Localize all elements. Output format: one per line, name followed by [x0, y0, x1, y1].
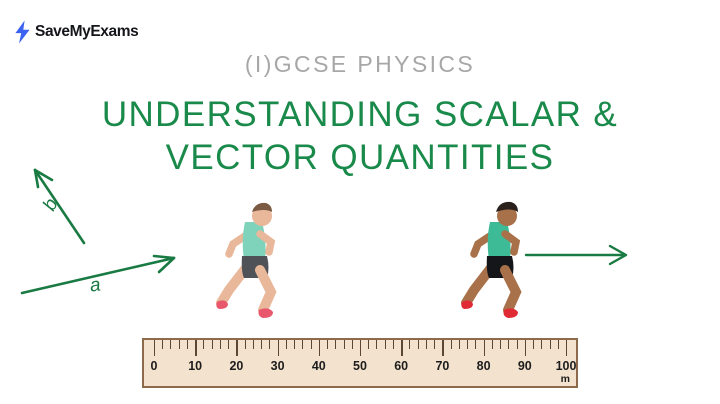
- vector-diagram: b a: [8, 155, 208, 320]
- ruler-minor-tick: [500, 340, 501, 349]
- ruler-minor-tick: [459, 340, 460, 349]
- ruler-minor-tick: [451, 340, 452, 349]
- ruler-number-label: 60: [394, 359, 408, 373]
- ruler-minor-tick: [335, 340, 336, 349]
- ruler-number-label: 20: [229, 359, 243, 373]
- ruler-major-tick: [566, 340, 567, 356]
- brand-logo: SaveMyExams: [14, 20, 138, 44]
- ruler-major-tick: [154, 340, 155, 356]
- ruler-minor-tick: [179, 340, 180, 349]
- ruler-minor-tick: [294, 340, 295, 349]
- ruler-minor-tick: [517, 340, 518, 349]
- ruler-minor-tick: [170, 340, 171, 349]
- ruler-minor-tick: [187, 340, 188, 349]
- ruler-minor-tick: [376, 340, 377, 349]
- velocity-vector-arrow: [524, 240, 634, 270]
- ruler-minor-tick: [245, 340, 246, 349]
- ruler-major-tick: [278, 340, 279, 356]
- brand-name: SaveMyExams: [35, 23, 138, 41]
- ruler-number-label: 50: [353, 359, 367, 373]
- ruler-minor-tick: [393, 340, 394, 349]
- ruler-minor-tick: [558, 340, 559, 349]
- ruler-minor-tick: [228, 340, 229, 349]
- ruler-minor-tick: [311, 340, 312, 349]
- ruler-minor-tick: [434, 340, 435, 349]
- ruler-major-tick: [319, 340, 320, 356]
- lightning-bolt-icon: [14, 20, 31, 44]
- ruler-number-label: 0: [151, 359, 158, 373]
- ruler-minor-tick: [302, 340, 303, 349]
- ruler-major-tick: [195, 340, 196, 356]
- ruler-minor-tick: [220, 340, 221, 349]
- ruler-minor-tick: [550, 340, 551, 349]
- ruler-minor-tick: [261, 340, 262, 349]
- ruler-number-label: 40: [312, 359, 326, 373]
- ruler-minor-tick: [409, 340, 410, 349]
- ruler-number-label: 70: [435, 359, 449, 373]
- ruler-minor-tick: [344, 340, 345, 349]
- ruler-minor-tick: [467, 340, 468, 349]
- ruler-tick-marks: 0102030405060708090100: [144, 340, 576, 386]
- ruler-minor-tick: [253, 340, 254, 349]
- ruler-minor-tick: [475, 340, 476, 349]
- ruler-minor-tick: [426, 340, 427, 349]
- ruler-minor-tick: [286, 340, 287, 349]
- ruler-unit-label: m: [561, 373, 570, 385]
- ruler-major-tick: [442, 340, 443, 356]
- ruler-number-label: 30: [271, 359, 285, 373]
- ruler-minor-tick: [492, 340, 493, 349]
- ruler-minor-tick: [352, 340, 353, 349]
- ruler-minor-tick: [162, 340, 163, 349]
- ruler-minor-tick: [418, 340, 419, 349]
- ruler-major-tick: [525, 340, 526, 356]
- ruler-major-tick: [360, 340, 361, 356]
- distance-ruler: 0102030405060708090100 m: [142, 338, 578, 388]
- ruler-minor-tick: [269, 340, 270, 349]
- ruler-minor-tick: [212, 340, 213, 349]
- ruler-number-label: 100: [556, 359, 577, 373]
- ruler-major-tick: [236, 340, 237, 356]
- subject-eyebrow: (I)GCSE PHYSICS: [0, 51, 720, 78]
- ruler-minor-tick: [533, 340, 534, 349]
- ruler-minor-tick: [327, 340, 328, 349]
- ruler-minor-tick: [385, 340, 386, 349]
- ruler-major-tick: [401, 340, 402, 356]
- ruler-minor-tick: [541, 340, 542, 349]
- ruler-number-label: 80: [477, 359, 491, 373]
- ruler-number-label: 10: [188, 359, 202, 373]
- ruler-minor-tick: [203, 340, 204, 349]
- slide-canvas: SaveMyExams (I)GCSE PHYSICS UNDERSTANDIN…: [0, 0, 720, 404]
- ruler-major-tick: [484, 340, 485, 356]
- ruler-number-label: 90: [518, 359, 532, 373]
- runner-figure-left: [215, 198, 293, 323]
- ruler-minor-tick: [508, 340, 509, 349]
- ruler-minor-tick: [368, 340, 369, 349]
